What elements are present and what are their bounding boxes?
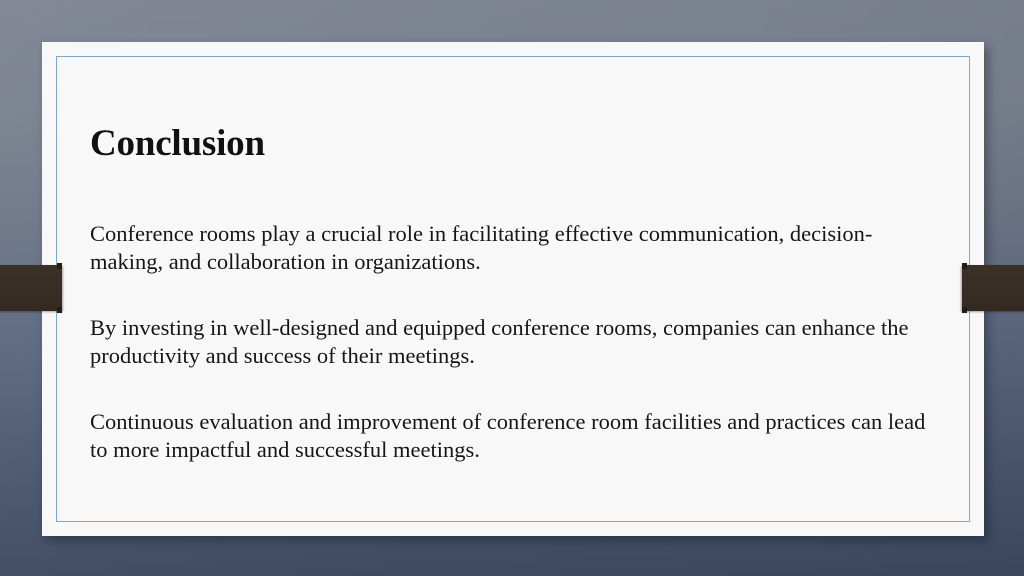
slide: Conclusion Conference rooms play a cruci… <box>0 0 1024 576</box>
body-paragraph: Continuous evaluation and improvement of… <box>90 408 940 464</box>
slide-body: Conference rooms play a crucial role in … <box>90 220 940 464</box>
tab-notch-icon <box>962 263 967 269</box>
decorative-tab-left <box>0 265 62 311</box>
page-title: Conclusion <box>90 124 920 165</box>
tab-notch-icon <box>962 307 967 313</box>
body-paragraph: Conference rooms play a crucial role in … <box>90 220 940 276</box>
tab-notch-icon <box>57 263 62 269</box>
slide-content-card: Conclusion Conference rooms play a cruci… <box>42 42 984 536</box>
tab-notch-icon <box>57 307 62 313</box>
body-paragraph: By investing in well-designed and equipp… <box>90 314 940 370</box>
decorative-tab-right <box>962 265 1024 311</box>
